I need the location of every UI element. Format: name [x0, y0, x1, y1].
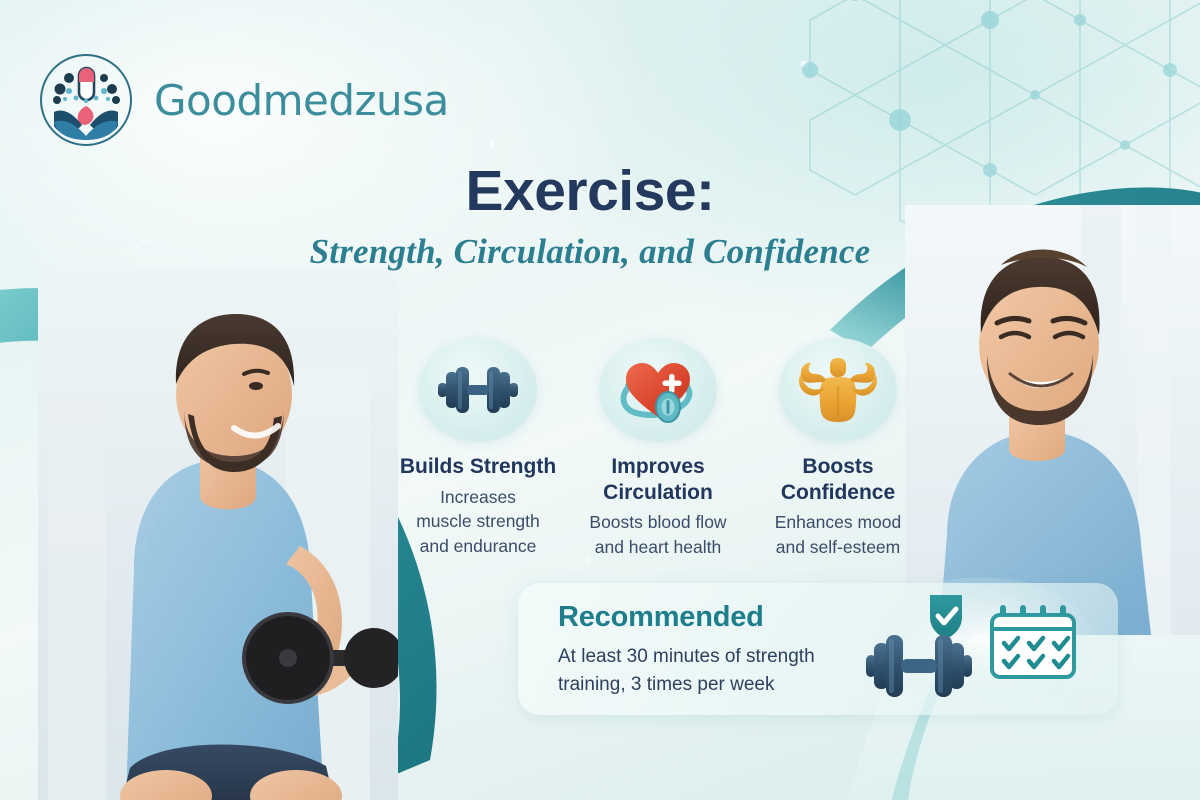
flexing-muscle-figure-icon [795, 356, 881, 424]
benefit-builds-strength: Builds Strength Increases muscle strengt… [388, 338, 568, 560]
man-lifting-dumbbell-photo [38, 268, 398, 800]
benefit-title-line: Improves [568, 454, 748, 480]
benefit-improves-circulation: Improves Circulation Boosts blood flow a… [568, 338, 748, 560]
benefit-description: Boosts blood flow and heart health [568, 510, 748, 560]
recommended-artwork [862, 577, 1112, 717]
brand-logo[interactable]: Goodmedzusa [38, 52, 449, 148]
title-block: Exercise: Strength, Circulation, and Con… [260, 162, 920, 272]
benefit-title: Builds Strength [388, 454, 568, 480]
benefit-desc-line: Boosts blood flow [568, 510, 748, 535]
benefit-description: Increases muscle strength and endurance [388, 485, 568, 560]
benefit-desc-line: Enhances mood [748, 510, 928, 535]
benefits-row: Builds Strength Increases muscle strengt… [388, 338, 928, 560]
benefit-desc-line: and self-esteem [748, 535, 928, 560]
brand-name: Goodmedzusa [154, 76, 449, 125]
goodmedzusa-capsule-hands-logo-icon [38, 52, 134, 148]
benefit-boosts-confidence: Boosts Confidence Enhances mood and self… [748, 338, 928, 560]
benefit-desc-line: muscle strength [388, 509, 568, 534]
benefit-desc-line: Increases [388, 485, 568, 510]
benefit-title: Boosts Confidence [748, 454, 928, 505]
benefit-desc-line: and endurance [388, 534, 568, 559]
benefit-title-line: Boosts [748, 454, 928, 480]
benefit-desc-line: and heart health [568, 535, 748, 560]
calendar-checks-icon [992, 605, 1074, 677]
smiling-man-photo [905, 205, 1200, 635]
page-subtitle: Strength, Circulation, and Confidence [260, 232, 920, 272]
benefit-icon-circle [779, 338, 897, 442]
dumbbell-icon [436, 359, 520, 421]
recommended-card: Recommended At least 30 minutes of stren… [518, 583, 1118, 715]
benefit-title-line: Confidence [748, 480, 928, 506]
benefit-title-line: Circulation [568, 480, 748, 506]
benefit-description: Enhances mood and self-esteem [748, 510, 928, 560]
benefit-title: Improves Circulation [568, 454, 748, 505]
page-title: Exercise: [260, 162, 920, 222]
exercise-infographic-poster: Goodmedzusa Exercise: Strength, Circulat… [0, 0, 1200, 800]
heart-stethoscope-icon [616, 355, 700, 425]
benefit-icon-circle [419, 338, 537, 442]
benefit-icon-circle [599, 338, 717, 442]
